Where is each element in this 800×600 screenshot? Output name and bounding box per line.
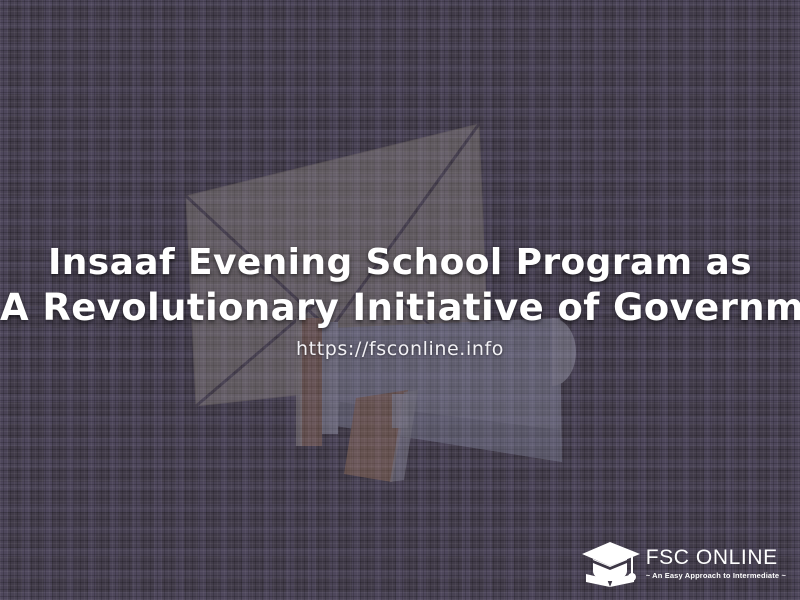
graduation-cap-icon	[580, 538, 642, 590]
logo-brand-name: FSC ONLINE	[646, 547, 778, 569]
site-url[interactable]: https://fsconline.info	[0, 338, 800, 360]
headline-line-2: A Revolutionary Initiative of Government	[0, 285, 800, 330]
logo-tagline: ~ An Easy Approach to Intermediate ~	[646, 570, 786, 581]
page-title: Insaaf Evening School Program as A Revol…	[0, 240, 800, 330]
headline-line-1: Insaaf Evening School Program as	[0, 240, 800, 285]
logo[interactable]: FSC ONLINE ~ An Easy Approach to Interme…	[580, 538, 786, 590]
banner: Insaaf Evening School Program as A Revol…	[0, 0, 800, 600]
